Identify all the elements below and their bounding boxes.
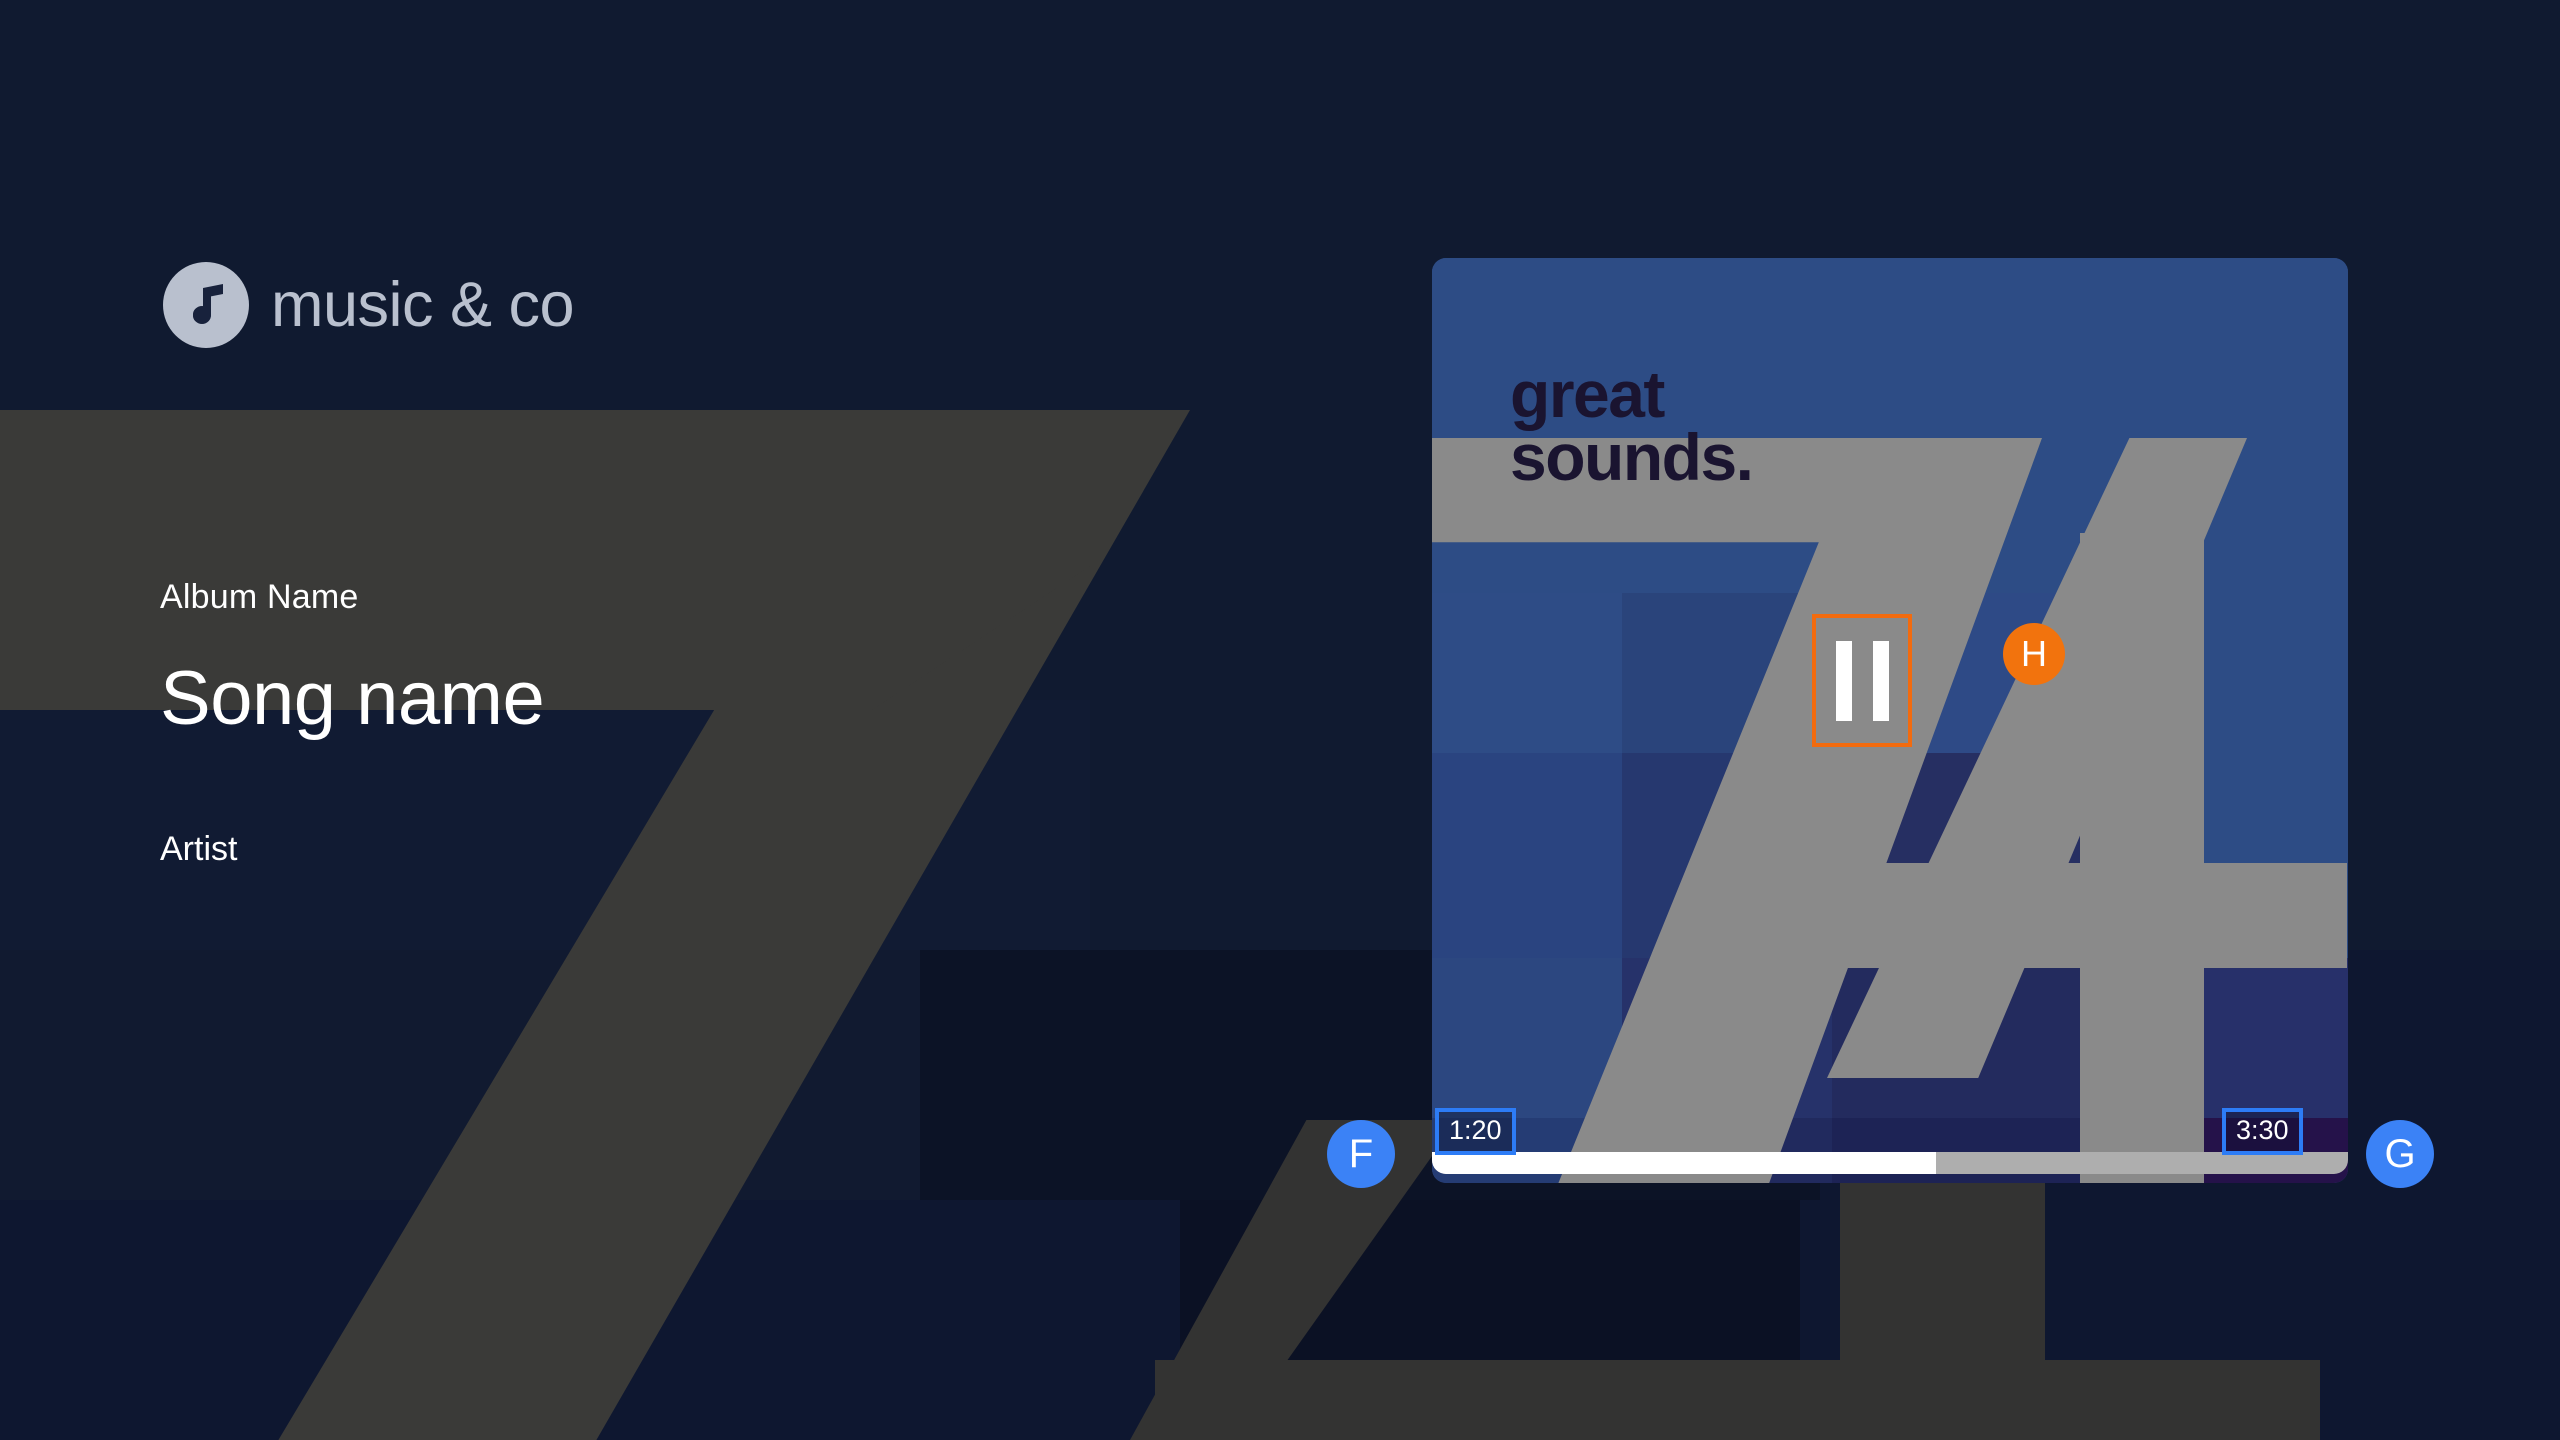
art-block-r2c0 (1432, 753, 1622, 958)
bg-glyph-four-bar (1155, 1360, 2320, 1440)
music-note-icon (163, 262, 249, 348)
bg-glyph-four-stem (1840, 1150, 2045, 1440)
music-player-screen: music & co Album Name Song name Artist g… (0, 0, 2560, 1440)
artwork-glyph-four-stem (2080, 533, 2204, 1183)
brand-logo[interactable]: music & co (163, 262, 574, 348)
marker-badge-f: F (1327, 1120, 1395, 1188)
pause-icon-bar-right (1873, 641, 1889, 721)
progress-track[interactable] (1432, 1152, 2348, 1174)
brand-name: music & co (271, 274, 574, 337)
artwork-headline: great sounds. (1510, 363, 1753, 490)
total-time-label: 3:30 (2222, 1108, 2303, 1155)
artwork-headline-line2: sounds. (1510, 426, 1753, 489)
song-title-label: Song name (160, 655, 544, 742)
pause-icon-bar-left (1836, 641, 1852, 721)
current-time-label: 1:20 (1435, 1108, 1516, 1155)
marker-badge-g: G (2366, 1120, 2434, 1188)
art-block-r3c0 (1432, 958, 1622, 1118)
marker-badge-h: H (2003, 623, 2065, 685)
album-name-label: Album Name (160, 578, 359, 617)
artwork-headline-line1: great (1510, 363, 1753, 426)
pause-button[interactable] (1812, 614, 1912, 747)
artist-name-label: Artist (160, 830, 237, 869)
progress-fill (1432, 1152, 1936, 1174)
art-block-r1c0 (1432, 593, 1622, 753)
progress-bar[interactable] (1432, 1152, 2348, 1174)
